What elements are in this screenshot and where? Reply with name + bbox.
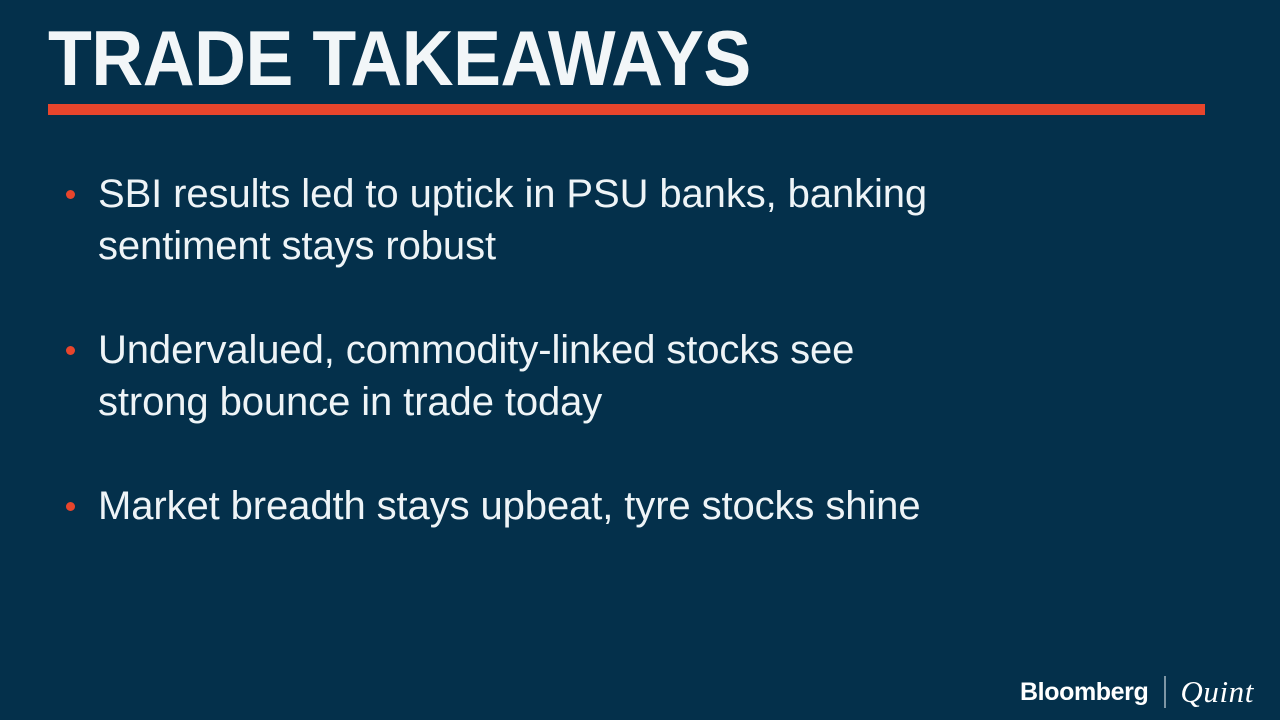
slide: TRADE TAKEAWAYS SBI results led to uptic… xyxy=(0,0,1280,720)
list-item-text: Undervalued, commodity-linked stocks see… xyxy=(98,324,1226,428)
title-block: TRADE TAKEAWAYS xyxy=(48,16,1208,115)
bullet-dot-icon xyxy=(66,346,75,355)
brand-logo: Bloomberg Quint xyxy=(1020,672,1254,712)
list-item: Market breadth stays upbeat, tyre stocks… xyxy=(66,480,1226,532)
bullet-list: SBI results led to uptick in PSU banks, … xyxy=(66,168,1226,532)
list-item: SBI results led to uptick in PSU banks, … xyxy=(66,168,1226,272)
bullet-dot-icon xyxy=(66,190,75,199)
list-item: Undervalued, commodity-linked stocks see… xyxy=(66,324,1226,428)
logo-quint-wordmark: Quint xyxy=(1180,676,1254,708)
title-underline-rule xyxy=(48,104,1205,115)
logo-bloomberg-wordmark: Bloomberg xyxy=(1020,679,1148,705)
page-title: TRADE TAKEAWAYS xyxy=(48,16,1115,100)
bullet-dot-icon xyxy=(66,502,75,511)
list-item-text: SBI results led to uptick in PSU banks, … xyxy=(98,168,1226,272)
logo-divider xyxy=(1164,676,1166,708)
list-item-text: Market breadth stays upbeat, tyre stocks… xyxy=(98,480,1226,532)
